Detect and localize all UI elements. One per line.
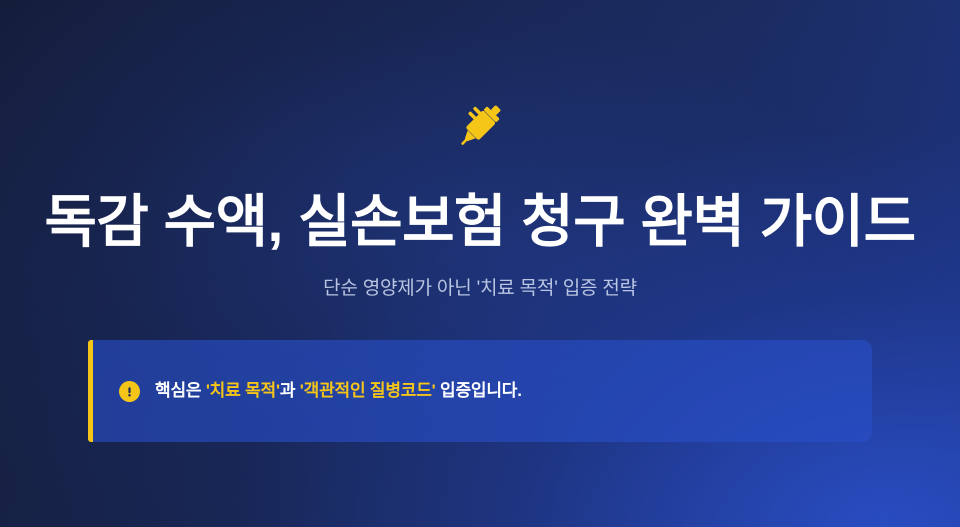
page-title: 독감 수액, 실손보험 청구 완벽 가이드 xyxy=(44,192,915,252)
key-point-callout: 핵심은 '치료 목적'과 '객관적인 질병코드' 입증입니다. xyxy=(88,340,872,442)
callout-plain: 과 xyxy=(280,381,300,400)
callout-plain: 입증입니다. xyxy=(436,381,522,400)
callout-plain: 핵심은 xyxy=(155,381,206,400)
page-subtitle: 단순 영양제가 아닌 '치료 목적' 입증 전략 xyxy=(323,277,637,302)
syringe-icon xyxy=(448,96,512,156)
callout-text: 핵심은 '치료 목적'과 '객관적인 질병코드' 입증입니다. xyxy=(155,379,522,403)
exclamation-circle-icon xyxy=(119,381,140,402)
callout-highlight: '객관적인 질병코드' xyxy=(300,381,436,400)
callout-highlight: '치료 목적' xyxy=(206,381,280,400)
hero-banner: 독감 수액, 실손보험 청구 완벽 가이드 단순 영양제가 아닌 '치료 목적'… xyxy=(0,0,960,527)
